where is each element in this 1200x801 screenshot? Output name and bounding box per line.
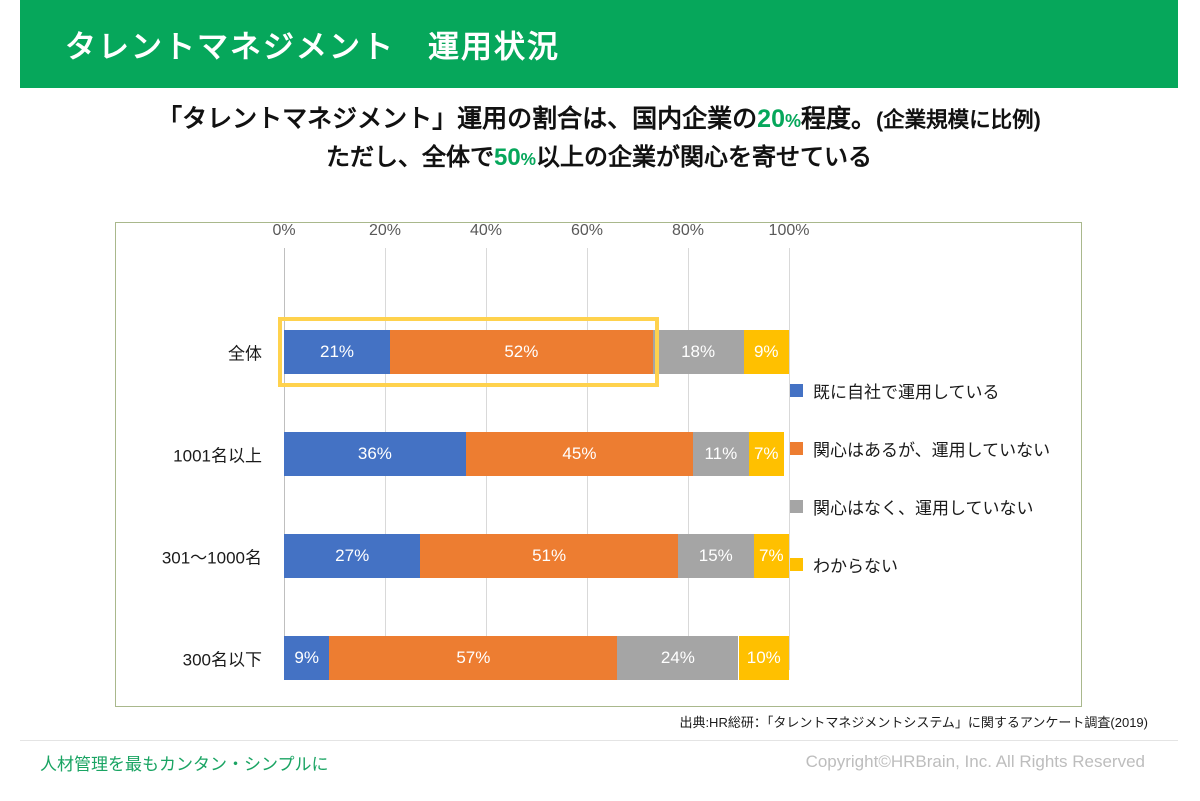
footer-tagline: 人材管理を最もカンタン・シンプルに xyxy=(40,750,329,775)
subtitle-highlight-20: 20% xyxy=(757,105,801,133)
bar-value-label: 24% xyxy=(661,648,695,668)
bar-value-label: 15% xyxy=(699,546,733,566)
bar-value-label: 10% xyxy=(747,648,781,668)
chart-row: 301〜1000名27%51%15%7% xyxy=(284,534,789,578)
bar-value-label: 57% xyxy=(456,648,490,668)
bar-value-label: 18% xyxy=(681,342,715,362)
legend-swatch-icon xyxy=(790,500,803,513)
bar-value-label: 9% xyxy=(294,648,319,668)
subtitle-line-1-text-a: 「タレントマネジメント」運用の割合は、国内企業の xyxy=(157,105,757,133)
bar-value-label: 27% xyxy=(335,546,369,566)
bar-value-label: 52% xyxy=(504,342,538,362)
bar-value-label: 51% xyxy=(532,546,566,566)
subtitle-line-1-parenthetical: (企業規模に比例) xyxy=(876,108,1041,132)
bar-value-label: 21% xyxy=(320,342,354,362)
subtitle-highlight-50: 50% xyxy=(494,144,536,171)
bar-value-label: 9% xyxy=(754,342,779,362)
category-label: 全体 xyxy=(228,340,262,365)
subtitle-line-2-text-b: 以上の企業が関心を寄せている xyxy=(536,144,872,171)
slide: タレントマネジメント 運用状況 「タレントマネジメント」運用の割合は、国内企業の… xyxy=(0,0,1200,801)
bar-segment[interactable]: 51% xyxy=(420,534,678,578)
bar-value-label: 11% xyxy=(704,444,737,464)
bar-segment[interactable]: 45% xyxy=(466,432,693,476)
footer-copyright: Copyright©HRBrain, Inc. All Rights Reser… xyxy=(806,752,1145,772)
bar-value-label: 36% xyxy=(358,444,392,464)
legend-item[interactable]: 関心はあるが、運用していない xyxy=(790,436,1080,461)
x-axis-tick-label: 0% xyxy=(272,222,295,240)
bar-value-label: 7% xyxy=(759,546,784,566)
category-label: 1001名以上 xyxy=(173,442,262,467)
subtitle-line-2-text-a: ただし、全体で xyxy=(326,144,494,171)
legend-label: 既に自社で運用している xyxy=(813,378,1000,403)
category-label: 300名以下 xyxy=(183,646,262,671)
legend-label: わからない xyxy=(813,552,898,577)
subtitle-line-2: ただし、全体で50%以上の企業が関心を寄せている xyxy=(20,139,1178,176)
x-axis-tick-label: 20% xyxy=(369,222,401,240)
legend-label: 関心はあるが、運用していない xyxy=(813,436,1050,461)
bar-segment[interactable]: 52% xyxy=(390,330,653,374)
bar-segment[interactable]: 11% xyxy=(693,432,749,476)
chart-row: 1001名以上36%45%11%7% xyxy=(284,432,789,476)
bar-segment[interactable]: 27% xyxy=(284,534,420,578)
source-note: 出典:HR総研：「タレントマネジメントシステム」に関するアンケート調査(2019… xyxy=(0,712,1148,731)
subtitle-highlight-20-percent: % xyxy=(785,111,801,131)
bar-segment[interactable]: 18% xyxy=(653,330,744,374)
footer-divider xyxy=(20,740,1178,741)
slide-header: タレントマネジメント 運用状況 xyxy=(20,0,1178,88)
category-label: 301〜1000名 xyxy=(162,544,262,569)
x-axis-tick-label: 60% xyxy=(571,222,603,240)
chart-row: 全体21%52%18%9% xyxy=(284,330,789,374)
bar-segment[interactable]: 21% xyxy=(284,330,390,374)
bar-segment[interactable]: 36% xyxy=(284,432,466,476)
legend-item[interactable]: わからない xyxy=(790,552,1080,577)
chart-legend: 既に自社で運用している関心はあるが、運用していない関心はなく、運用していないわか… xyxy=(790,378,1080,610)
bar-segment[interactable]: 9% xyxy=(284,636,329,680)
bar-segment[interactable]: 15% xyxy=(678,534,754,578)
x-axis-tick-label: 100% xyxy=(769,222,810,240)
bar-value-label: 45% xyxy=(562,444,596,464)
bar-segment[interactable]: 7% xyxy=(749,432,784,476)
subtitle-block: 「タレントマネジメント」運用の割合は、国内企業の20%程度。(企業規模に比例) … xyxy=(20,100,1178,176)
subtitle-highlight-50-number: 50 xyxy=(494,144,521,171)
legend-swatch-icon xyxy=(790,384,803,397)
bar-segment[interactable]: 57% xyxy=(329,636,617,680)
subtitle-line-1-text-b: 程度。 xyxy=(801,105,876,133)
legend-item[interactable]: 既に自社で運用している xyxy=(790,378,1080,403)
subtitle-line-1: 「タレントマネジメント」運用の割合は、国内企業の20%程度。(企業規模に比例) xyxy=(20,100,1178,139)
chart-plot-area: 0%20%40%60%80%100%全体21%52%18%9%1001名以上36… xyxy=(284,248,789,688)
legend-label: 関心はなく、運用していない xyxy=(813,494,1034,519)
bar-segment[interactable]: 7% xyxy=(754,534,789,578)
legend-swatch-icon xyxy=(790,558,803,571)
bar-value-label: 7% xyxy=(754,444,779,464)
subtitle-highlight-50-percent: % xyxy=(521,149,536,169)
bar-segment[interactable]: 9% xyxy=(744,330,789,374)
page-title: タレントマネジメント 運用状況 xyxy=(65,22,560,67)
bar-segment[interactable]: 24% xyxy=(617,636,738,680)
subtitle-highlight-20-number: 20 xyxy=(757,105,785,133)
x-axis-tick-label: 80% xyxy=(672,222,704,240)
legend-swatch-icon xyxy=(790,442,803,455)
chart-row: 300名以下9%57%24%10% xyxy=(284,636,789,680)
bar-segment[interactable]: 10% xyxy=(739,636,790,680)
x-axis-tick-label: 40% xyxy=(470,222,502,240)
legend-item[interactable]: 関心はなく、運用していない xyxy=(790,494,1080,519)
